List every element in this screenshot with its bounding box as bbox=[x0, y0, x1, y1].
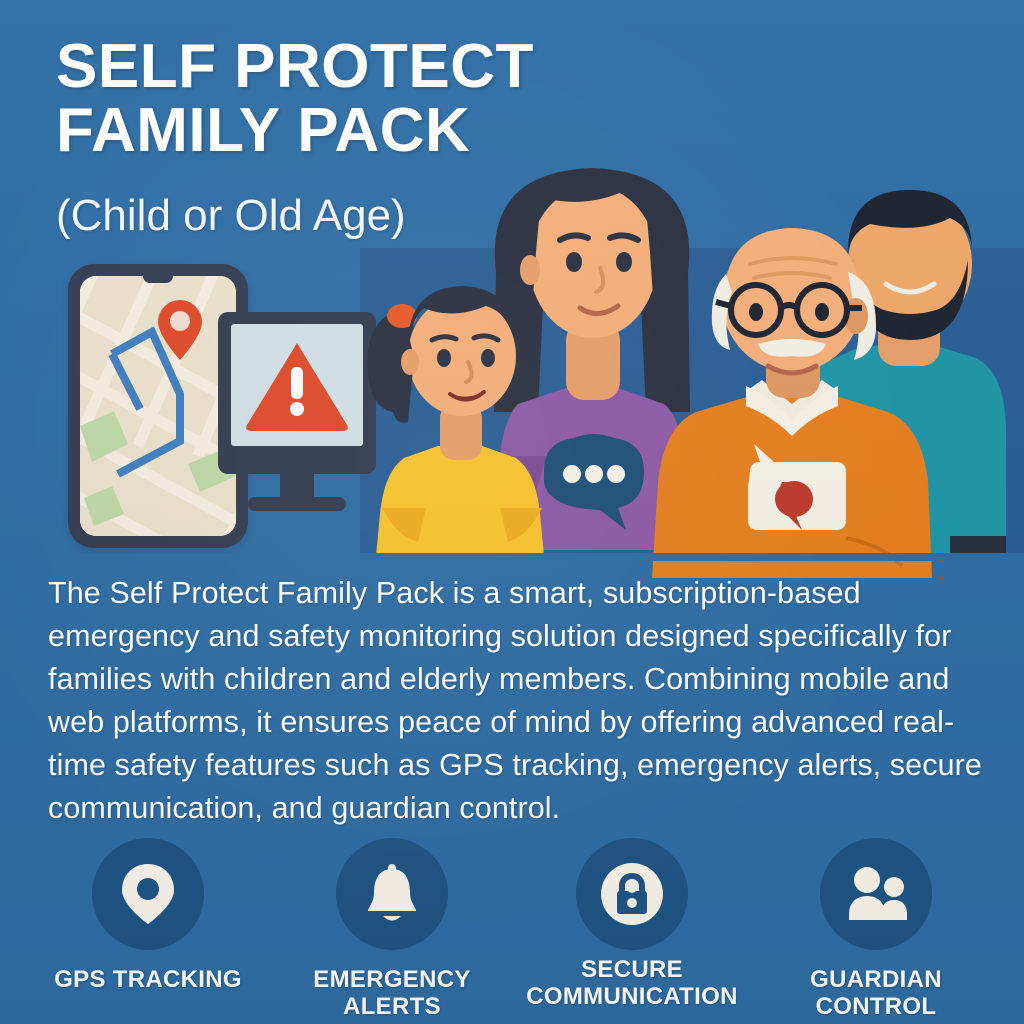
page-title: SELF PROTECT FAMILY PACK bbox=[56, 35, 696, 163]
chat-bubble-typing bbox=[534, 426, 652, 544]
description-paragraph: The Self Protect Family Pack is a smart,… bbox=[48, 572, 996, 830]
feature-icon-circle bbox=[92, 838, 204, 950]
monitor-screen bbox=[231, 324, 363, 446]
feature-icon-circle bbox=[336, 838, 448, 950]
person-elderly-man bbox=[640, 220, 940, 580]
feature-label: GUARDIAN CONTROL bbox=[748, 966, 1004, 1020]
feature-gps-tracking[interactable]: GPS TRACKING bbox=[20, 838, 276, 993]
feature-icon-circle bbox=[576, 838, 688, 950]
hero-illustration bbox=[0, 248, 1024, 553]
feature-emergency-alerts[interactable]: EMERGENCY ALERTS bbox=[264, 838, 520, 1020]
monitor-base bbox=[248, 497, 346, 511]
people-icon bbox=[843, 866, 909, 922]
feature-secure-communication[interactable]: SECURE COMMUNICATION bbox=[504, 838, 760, 1010]
feature-icon-circle bbox=[820, 838, 932, 950]
location-pin-icon bbox=[120, 862, 176, 926]
map-graphic bbox=[80, 276, 236, 536]
feature-label: GPS TRACKING bbox=[20, 966, 276, 993]
infographic-poster: SELF PROTECT FAMILY PACK (Child or Old A… bbox=[0, 0, 1024, 1024]
lock-icon bbox=[601, 863, 663, 925]
person-child bbox=[366, 258, 556, 558]
feature-label: EMERGENCY ALERTS bbox=[264, 966, 520, 1020]
feature-row: GPS TRACKING EMERGENCY ALERTS bbox=[0, 838, 1024, 1024]
desktop-monitor-alert bbox=[218, 312, 376, 474]
page-subtitle: (Child or Old Age) bbox=[56, 192, 406, 240]
illustration-divider bbox=[0, 553, 1024, 561]
phone-notch bbox=[143, 274, 173, 283]
feature-label: SECURE COMMUNICATION bbox=[504, 956, 760, 1010]
phone-screen bbox=[80, 276, 236, 536]
bell-icon bbox=[362, 863, 422, 925]
warning-triangle-icon bbox=[243, 337, 351, 433]
feature-guardian-control[interactable]: GUARDIAN CONTROL bbox=[748, 838, 1004, 1020]
